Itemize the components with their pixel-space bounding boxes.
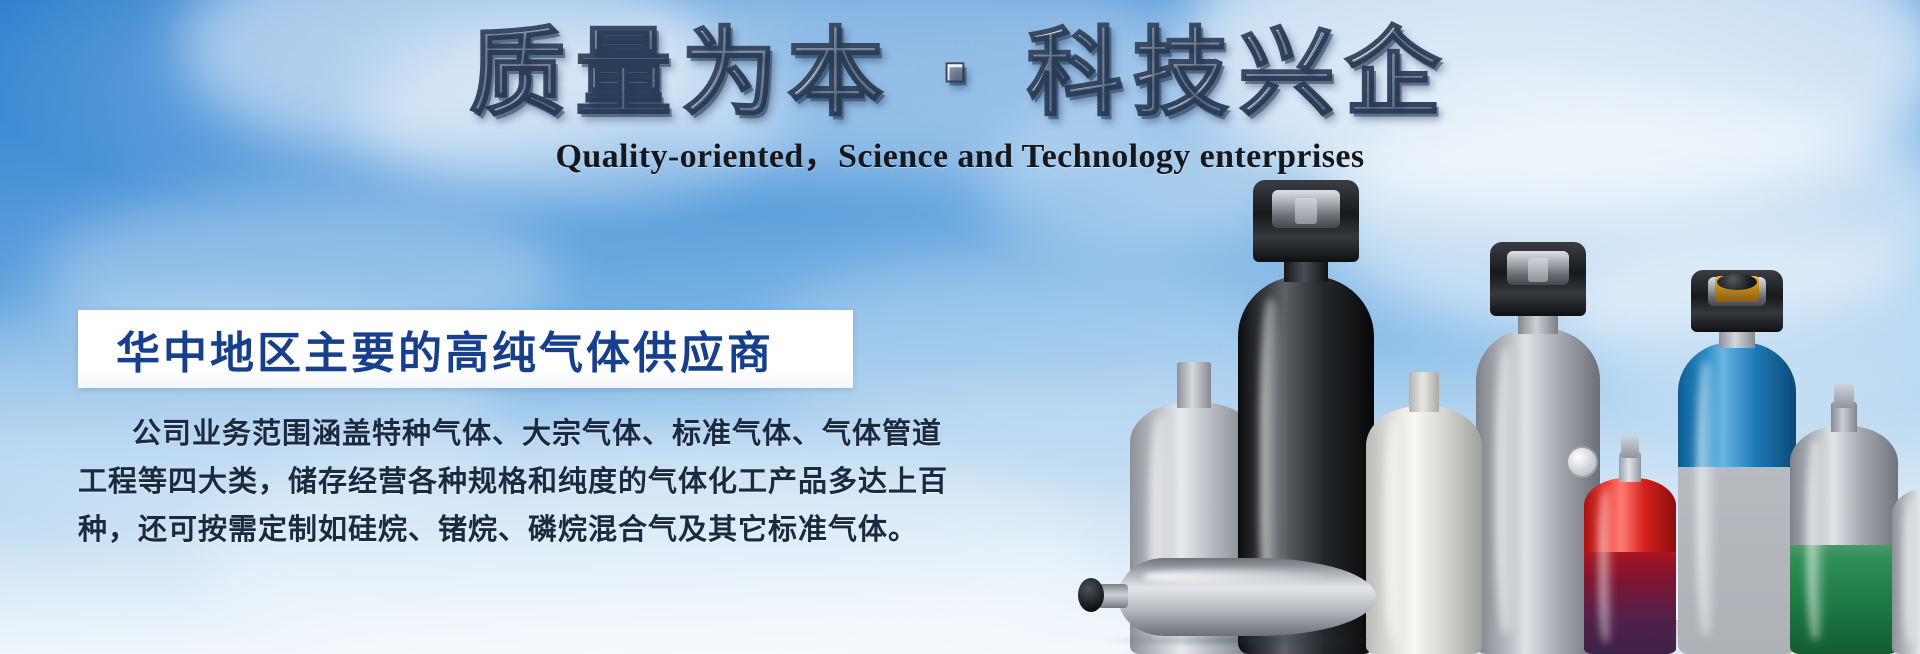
blue-grey-cylinder (1678, 282, 1796, 654)
headline-chinese: 质量为本 · 科技兴企 (469, 22, 1450, 126)
cylinder-body (1790, 426, 1898, 654)
valve-knob (1078, 578, 1104, 612)
description-line: 工程等四大类，储存经营各种规格和纯度的气体化工产品多达上百 (78, 458, 878, 506)
pressure-gauge-icon (1566, 446, 1598, 478)
cylinder-gloss (1496, 348, 1516, 635)
cylinder-body (1584, 478, 1676, 654)
horizontal-cylinder (1092, 548, 1392, 644)
tagline-box: 华中地区主要的高纯气体供应商 (78, 310, 853, 388)
description-line: 种，还可按需定制如硅烷、锗烷、磷烷混合气及其它标准气体。 (78, 506, 878, 554)
headline-english: Quality-oriented，Science and Technology … (0, 128, 1920, 177)
cylinder-neck (1177, 362, 1211, 408)
red-small-cylinder (1584, 442, 1676, 654)
tagline-text: 华中地区主要的高纯气体供应商 (78, 317, 774, 381)
green-cylinder (1790, 386, 1898, 654)
gas-cylinder-collage (1130, 150, 1920, 654)
description-paragraph: 公司业务范围涵盖特种气体、大宗气体、标准气体、气体管道 工程等四大类，储存经营各… (78, 410, 878, 554)
description-line: 公司业务范围涵盖特种气体、大宗气体、标准气体、气体管道 (78, 410, 878, 458)
cylinder-gloss (1807, 440, 1824, 641)
cylinder-gloss (1904, 498, 1916, 644)
headline-block: 质量为本 · 科技兴企 Quality-oriented，Science and… (0, 22, 1920, 177)
cylinder-gloss (1599, 489, 1614, 644)
cylinder-valve (1528, 258, 1548, 282)
cylinder-body (1118, 558, 1376, 636)
silver-small-cylinder (1892, 458, 1920, 654)
cylinder-gloss (1697, 361, 1716, 636)
cylinder-body (1892, 488, 1920, 654)
cylinder-valve (1295, 198, 1317, 224)
cylinder-body (1476, 328, 1600, 654)
cylinder-body (1678, 342, 1796, 654)
cylinder-valve (1834, 384, 1854, 408)
cylinder-valve (1621, 436, 1639, 458)
valve-knob (1717, 274, 1757, 290)
promo-banner: 质量为本 · 科技兴企 Quality-oriented，Science and… (0, 0, 1920, 654)
cylinder-neck (1409, 372, 1439, 412)
